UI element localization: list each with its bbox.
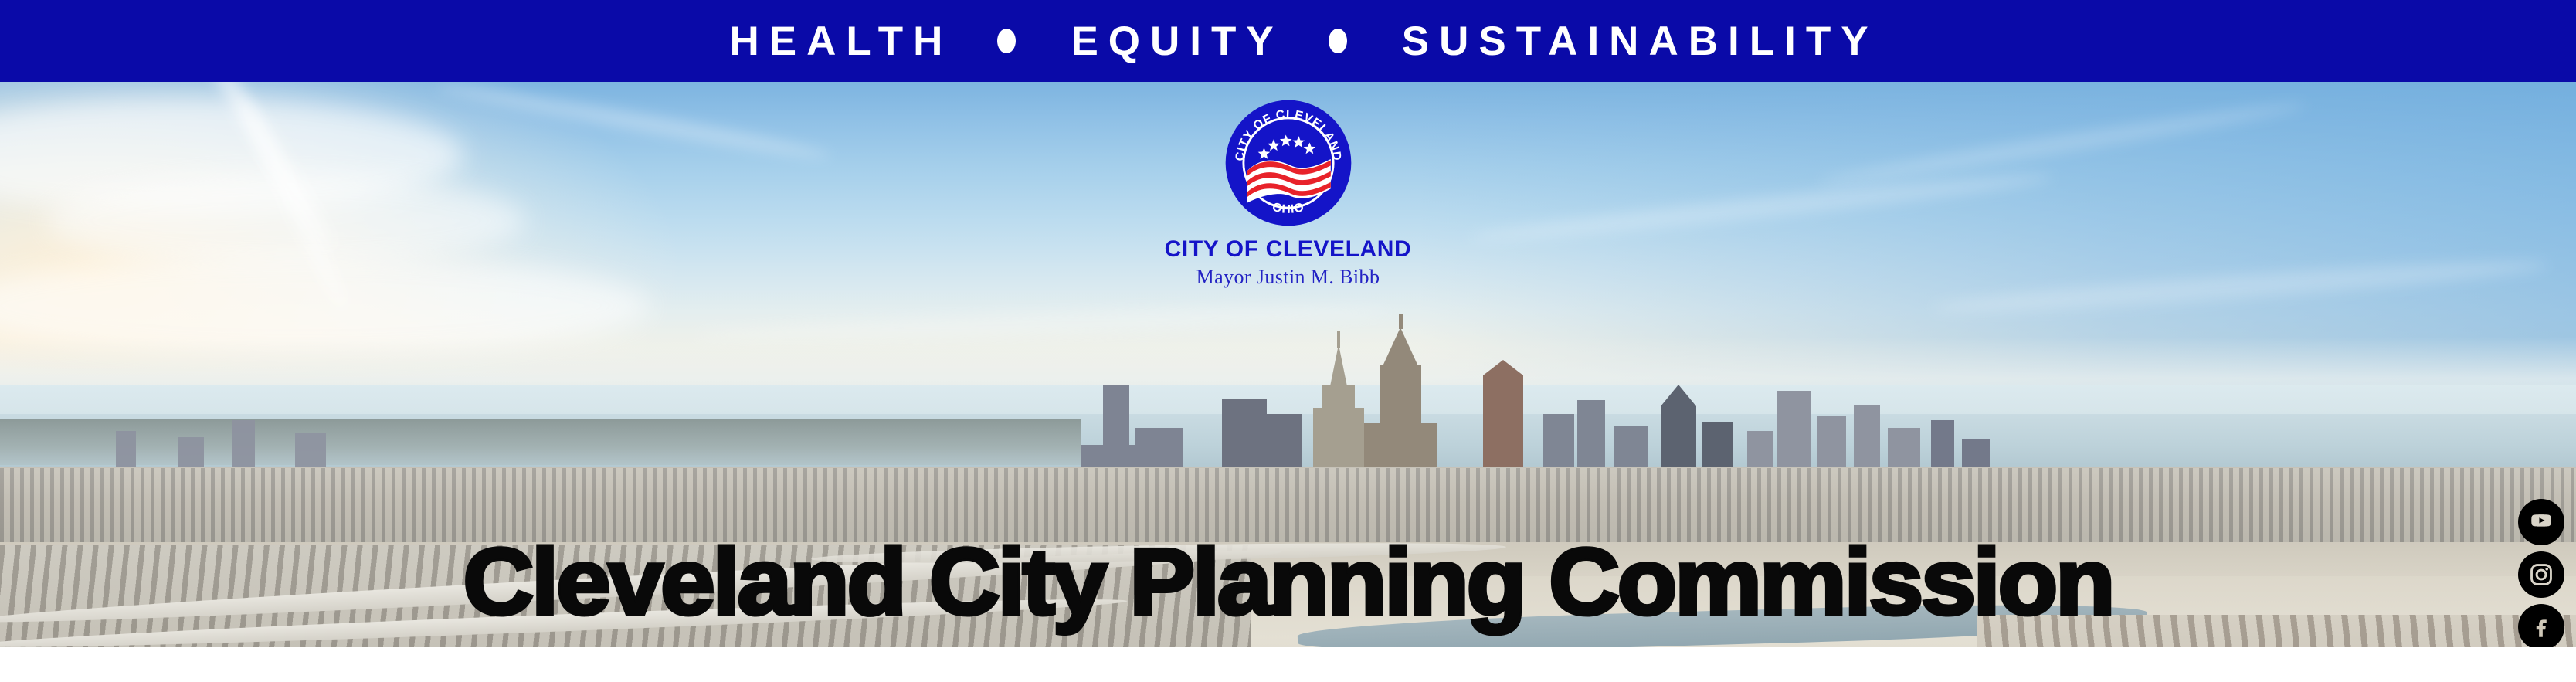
facebook-icon[interactable] bbox=[2518, 604, 2564, 647]
page-title: Cleveland City Planning Commission bbox=[0, 534, 2576, 629]
city-of-cleveland-seal-icon: CITY OF CLEVELAND OHIO bbox=[1224, 99, 1352, 227]
dot-separator-icon bbox=[997, 29, 1016, 53]
tagline-banner: HEALTH EQUITY SUSTAINABILITY bbox=[0, 0, 2576, 82]
instagram-icon[interactable] bbox=[2518, 551, 2564, 598]
footer-white-strip bbox=[0, 647, 2576, 682]
tagline-word-health: HEALTH bbox=[719, 21, 952, 62]
page-root: HEALTH EQUITY SUSTAINABILITY bbox=[0, 0, 2576, 682]
tagline-banner-inner: HEALTH EQUITY SUSTAINABILITY bbox=[719, 21, 1878, 62]
city-name-label: CITY OF CLEVELAND bbox=[1165, 238, 1412, 261]
mayor-name-label: Mayor Justin M. Bibb bbox=[1196, 267, 1380, 287]
tagline-word-sustainability: SUSTAINABILITY bbox=[1392, 21, 1879, 62]
branding-block: CITY OF CLEVELAND OHIO CITY OF CLEVELAND… bbox=[0, 99, 2576, 287]
dot-separator-icon bbox=[1329, 29, 1347, 53]
social-links bbox=[2511, 499, 2571, 647]
youtube-icon[interactable] bbox=[2518, 499, 2564, 545]
hero-photo: CITY OF CLEVELAND OHIO CITY OF CLEVELAND… bbox=[0, 82, 2576, 647]
tagline-word-equity: EQUITY bbox=[1061, 21, 1283, 62]
